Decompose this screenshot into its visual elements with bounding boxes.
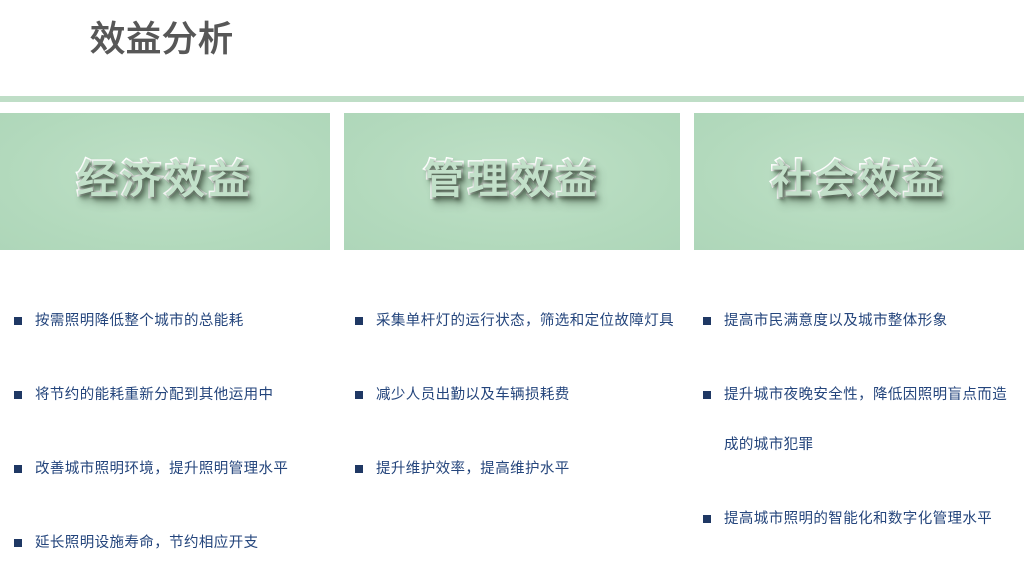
square-bullet-icon <box>14 317 22 325</box>
list-item: 减少人员出勤以及车辆损耗费 <box>355 370 680 420</box>
list-item: 改善城市照明环境，提升照明管理水平 <box>14 444 334 494</box>
bullet-column-management: 采集单杆灯的运行状态，筛选和定位故障灯具 减少人员出勤以及车辆损耗费 提升维护效… <box>355 296 680 494</box>
bullet-column-social: 提高市民满意度以及城市整体形象 提升城市夜晚安全性，降低因照明盲点而造成的城市犯… <box>703 296 1018 544</box>
list-item-label: 提高城市照明的智能化和数字化管理水平 <box>724 494 1018 544</box>
list-item-label: 改善城市照明环境，提升照明管理水平 <box>35 444 334 494</box>
benefit-card-social: 社会效益 <box>694 113 1024 250</box>
list-item: 提升城市夜晚安全性，降低因照明盲点而造成的城市犯罪 <box>703 370 1018 470</box>
list-item: 提高市民满意度以及城市整体形象 <box>703 296 1018 346</box>
title-divider <box>0 96 1024 102</box>
square-bullet-icon <box>14 539 22 547</box>
benefit-card-social-title: 社会效益 <box>771 160 947 200</box>
list-item-label: 提升维护效率，提高维护水平 <box>376 444 680 494</box>
benefit-card-management: 管理效益 <box>344 113 680 250</box>
square-bullet-icon <box>355 391 363 399</box>
square-bullet-icon <box>14 465 22 473</box>
list-item-label: 提高市民满意度以及城市整体形象 <box>724 296 1018 346</box>
square-bullet-icon <box>355 465 363 473</box>
list-item: 延长照明设施寿命，节约相应开支 <box>14 518 334 568</box>
list-item: 提高城市照明的智能化和数字化管理水平 <box>703 494 1018 544</box>
list-item-label: 提升城市夜晚安全性，降低因照明盲点而造成的城市犯罪 <box>724 370 1018 470</box>
list-item: 将节约的能耗重新分配到其他运用中 <box>14 370 334 420</box>
bullet-column-economic: 按需照明降低整个城市的总能耗 将节约的能耗重新分配到其他运用中 改善城市照明环境… <box>14 296 334 568</box>
benefit-card-management-title: 管理效益 <box>424 160 600 200</box>
square-bullet-icon <box>703 391 711 399</box>
benefit-card-economic: 经济效益 <box>0 113 330 250</box>
list-item-label: 减少人员出勤以及车辆损耗费 <box>376 370 680 420</box>
list-item-label: 采集单杆灯的运行状态，筛选和定位故障灯具 <box>376 296 680 346</box>
square-bullet-icon <box>703 515 711 523</box>
benefit-detail-columns: 按需照明降低整个城市的总能耗 将节约的能耗重新分配到其他运用中 改善城市照明环境… <box>0 296 1024 526</box>
square-bullet-icon <box>14 391 22 399</box>
benefit-card-band: 经济效益 管理效益 社会效益 <box>0 113 1024 250</box>
benefit-card-economic-title: 经济效益 <box>77 160 253 200</box>
list-item: 提升维护效率，提高维护水平 <box>355 444 680 494</box>
page-title: 效益分析 <box>90 18 234 62</box>
list-item: 采集单杆灯的运行状态，筛选和定位故障灯具 <box>355 296 680 346</box>
list-item-label: 延长照明设施寿命，节约相应开支 <box>35 518 334 568</box>
list-item-label: 将节约的能耗重新分配到其他运用中 <box>35 370 334 420</box>
list-item: 按需照明降低整个城市的总能耗 <box>14 296 334 346</box>
list-item-label: 按需照明降低整个城市的总能耗 <box>35 296 334 346</box>
square-bullet-icon <box>703 317 711 325</box>
square-bullet-icon <box>355 317 363 325</box>
